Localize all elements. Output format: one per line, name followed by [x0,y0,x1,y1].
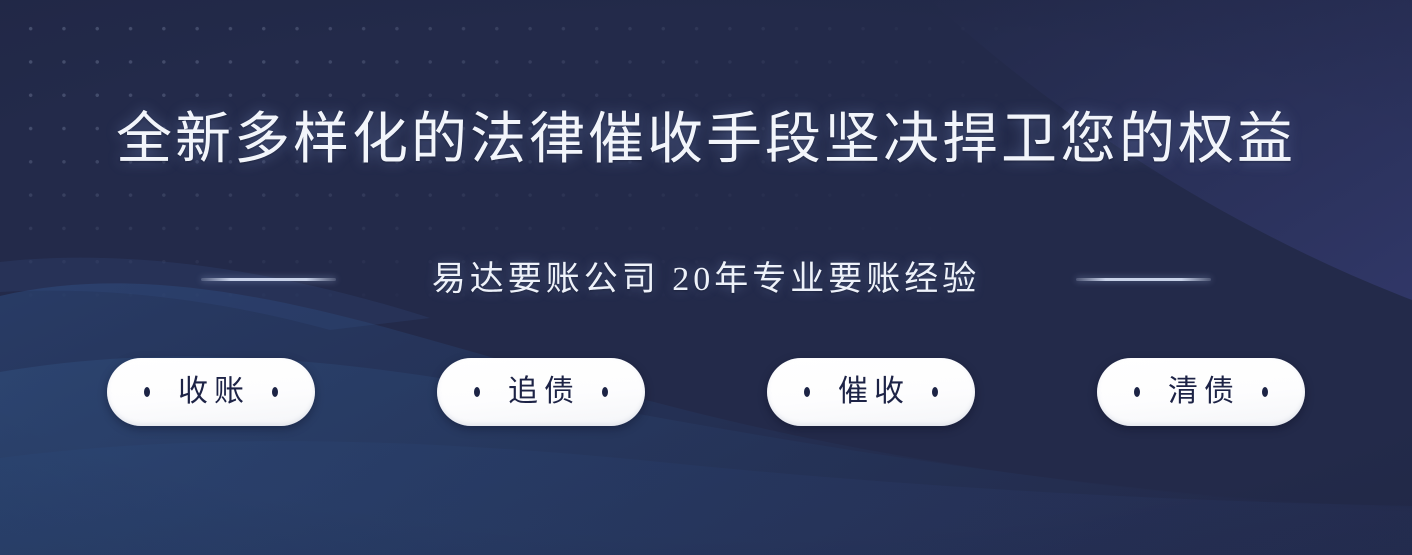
subtitle-row: 易达要账公司 20年专业要账经验 [0,258,1412,302]
divider-line-left-icon [201,278,336,281]
service-pill-cuishou[interactable]: 催收 [767,358,975,426]
service-pill-label: 清债 [1162,374,1240,410]
bullet-dot-icon [932,387,938,397]
divider-line-right-icon [1076,278,1211,281]
bullet-dot-icon [272,387,278,397]
page-title: 全新多样化的法律催收手段坚决捍卫您的权益 [116,108,1296,172]
service-pill-label: 收账 [172,374,250,410]
bullet-dot-icon [144,387,150,397]
bullet-dot-icon [804,387,810,397]
service-pill-qingzhai[interactable]: 清债 [1097,358,1305,426]
service-pill-label: 催收 [832,374,910,410]
bullet-dot-icon [602,387,608,397]
service-pill-label: 追债 [502,374,580,410]
promo-banner: 全新多样化的法律催收手段坚决捍卫您的权益 易达要账公司 20年专业要账经验 收账… [0,0,1412,555]
bullet-dot-icon [1134,387,1140,397]
banner-content: 全新多样化的法律催收手段坚决捍卫您的权益 易达要账公司 20年专业要账经验 收账… [0,0,1412,555]
bullet-dot-icon [1262,387,1268,397]
service-pill-row: 收账 追债 催收 清债 [107,358,1305,426]
service-pill-zhuizhai[interactable]: 追债 [437,358,645,426]
service-pill-shouzhang[interactable]: 收账 [107,358,315,426]
bullet-dot-icon [474,387,480,397]
subtitle-text: 易达要账公司 20年专业要账经验 [432,258,981,302]
